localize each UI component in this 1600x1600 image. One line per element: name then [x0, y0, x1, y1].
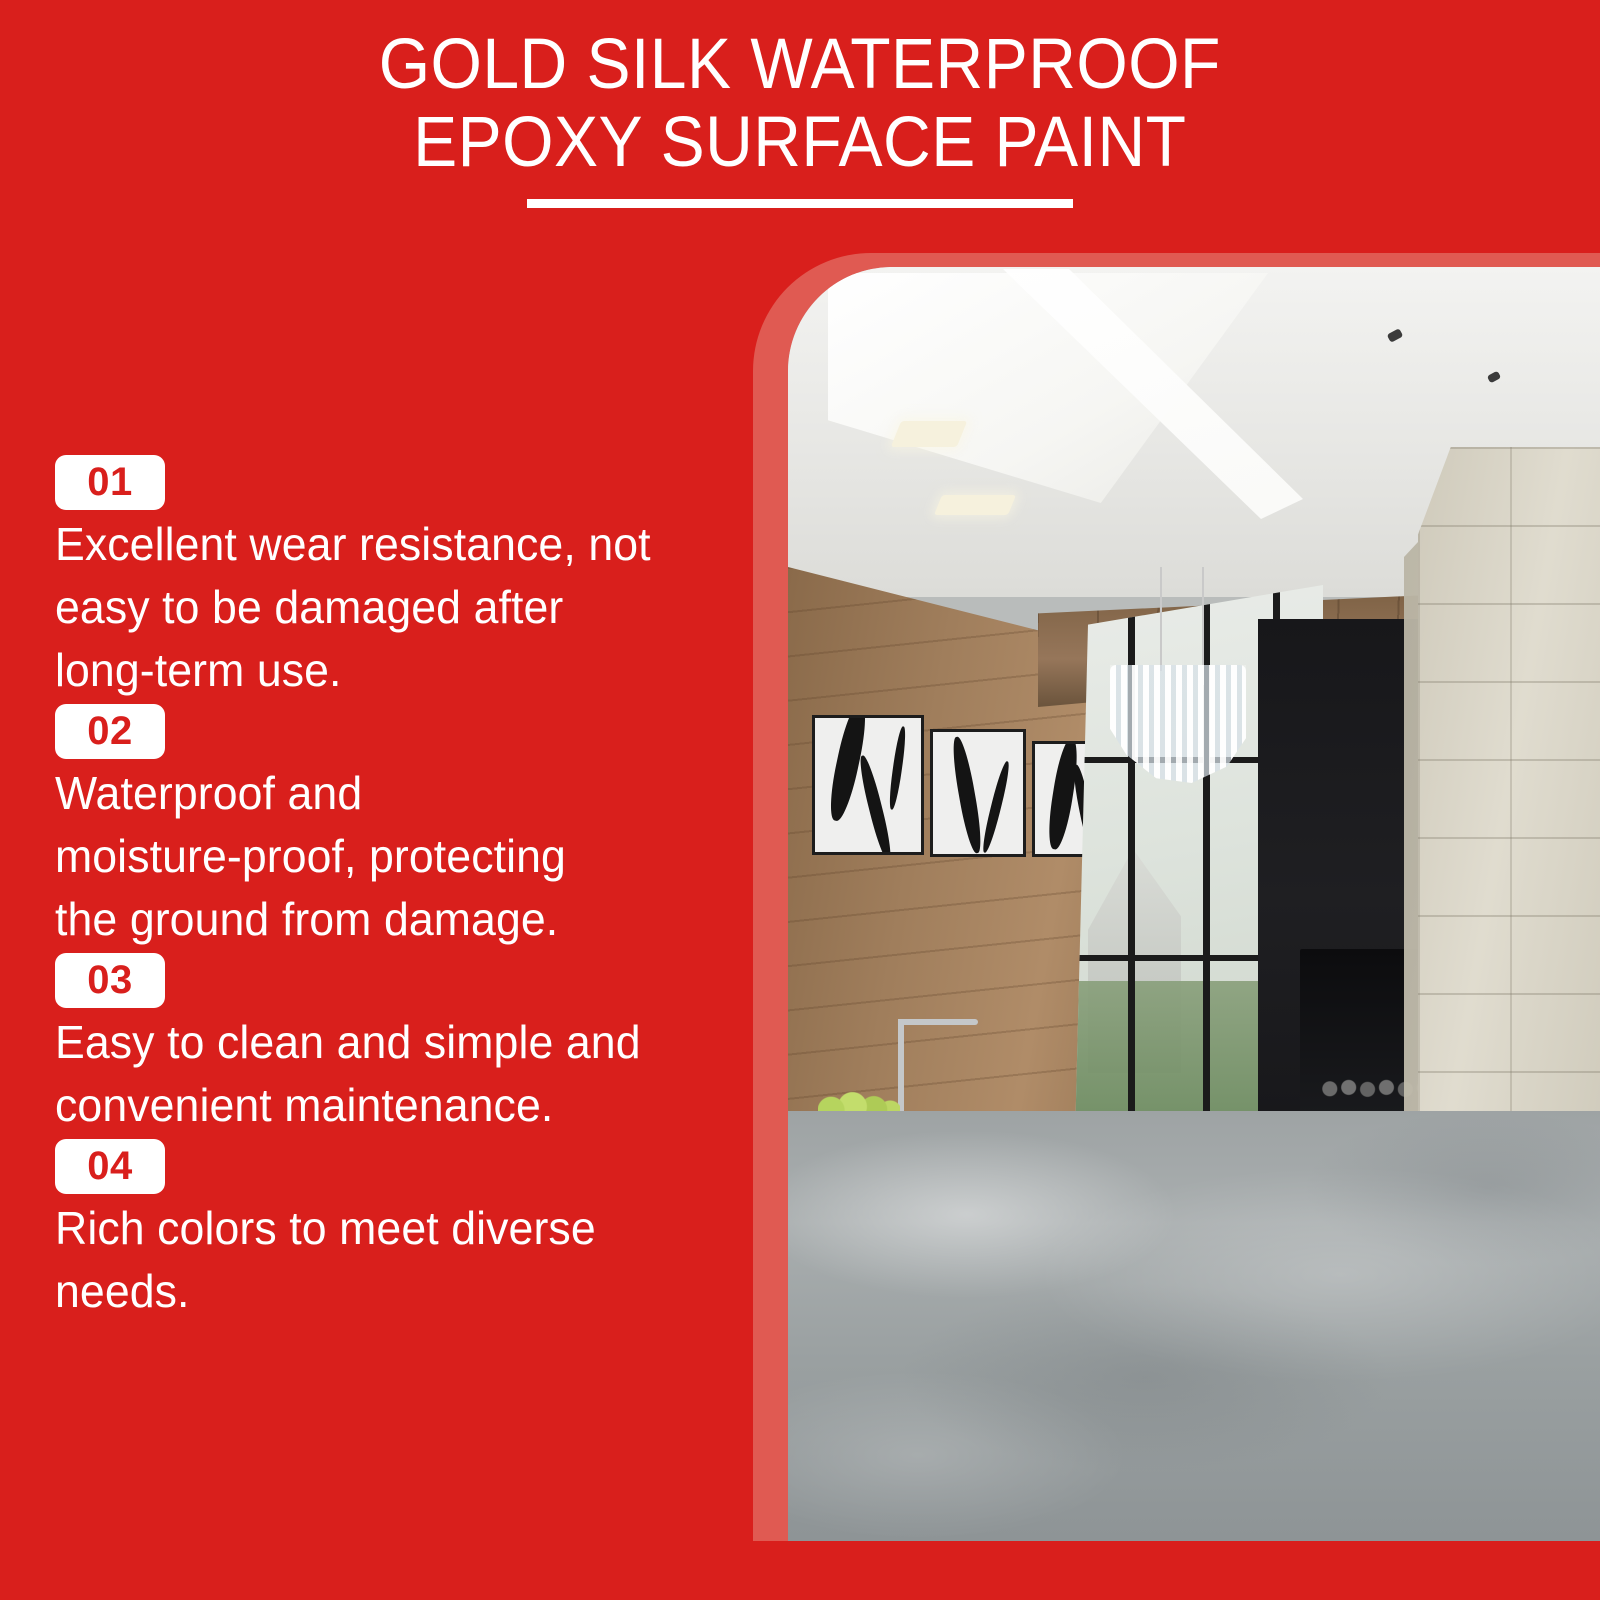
product-photo-panel: [753, 253, 1600, 1541]
page-title: GOLD SILK WATERPROOF EPOXY SURFACE PAINT: [379, 26, 1221, 182]
feature-item-02: 02 Waterproof and moisture-proof, protec…: [55, 704, 735, 951]
feature-description: Rich colors to meet diverse needs.: [55, 1197, 715, 1323]
feature-number-badge: 04: [55, 1139, 165, 1194]
title-underline-rule: [527, 199, 1073, 208]
bottom-red-bar: [0, 1541, 1600, 1600]
kitchen-faucet-arm: [898, 1019, 978, 1025]
feature-description: Easy to clean and simple and convenient …: [55, 1011, 715, 1137]
feature-number-badge: 01: [55, 455, 165, 510]
feature-item-01: 01 Excellent wear resistance, not easy t…: [55, 455, 735, 702]
abstract-artwork: [812, 715, 924, 855]
feature-description: Waterproof and moisture-proof, protectin…: [55, 762, 715, 951]
chandelier-cord: [1160, 567, 1162, 671]
feature-item-04: 04 Rich colors to meet diverse needs.: [55, 1139, 735, 1323]
recessed-light: [891, 421, 968, 447]
feature-list: 01 Excellent wear resistance, not easy t…: [55, 455, 735, 1325]
interior-scene-photo: [788, 267, 1600, 1541]
feature-description: Excellent wear resistance, not easy to b…: [55, 513, 715, 702]
feature-number-badge: 03: [55, 953, 165, 1008]
abstract-artwork: [930, 729, 1026, 857]
recessed-light: [934, 495, 1016, 515]
feature-number-badge: 02: [55, 704, 165, 759]
header-banner: GOLD SILK WATERPROOF EPOXY SURFACE PAINT: [0, 0, 1600, 240]
polished-epoxy-floor: [788, 1111, 1600, 1541]
scene-illustration: [788, 267, 1600, 1541]
feature-item-03: 03 Easy to clean and simple and convenie…: [55, 953, 735, 1137]
